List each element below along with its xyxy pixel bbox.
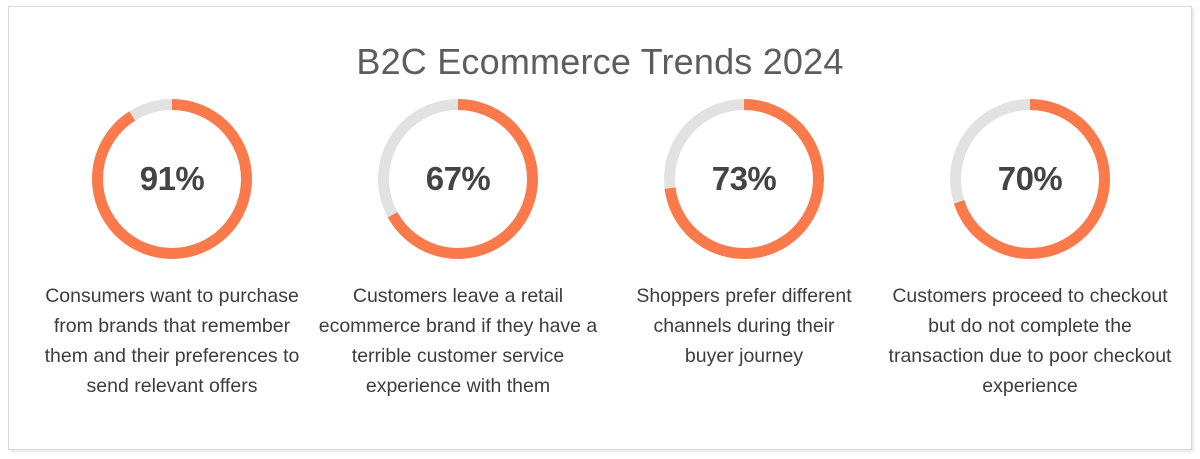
donut-value-2: 67% bbox=[378, 99, 538, 259]
infographic-page: B2C Ecommerce Trends 2024 91% Consumers … bbox=[0, 0, 1200, 459]
donut-chart-1: 91% bbox=[92, 99, 252, 259]
donut-value-4: 70% bbox=[950, 99, 1110, 259]
page-title: B2C Ecommerce Trends 2024 bbox=[9, 41, 1191, 83]
donut-stats-row: 91% Consumers want to purchase from bran… bbox=[29, 99, 1173, 401]
donut-chart-3: 73% bbox=[664, 99, 824, 259]
donut-chart-2: 67% bbox=[378, 99, 538, 259]
donut-value-1: 91% bbox=[92, 99, 252, 259]
stat-caption-3: Shoppers prefer different channels durin… bbox=[629, 281, 859, 371]
stat-item-2: 67% Customers leave a retail ecommerce b… bbox=[315, 99, 601, 401]
stat-item-4: 70% Customers proceed to checkout but do… bbox=[887, 99, 1173, 401]
donut-value-3: 73% bbox=[664, 99, 824, 259]
infographic-card: B2C Ecommerce Trends 2024 91% Consumers … bbox=[8, 6, 1192, 450]
stat-item-1: 91% Consumers want to purchase from bran… bbox=[29, 99, 315, 401]
donut-chart-4: 70% bbox=[950, 99, 1110, 259]
stat-caption-1: Consumers want to purchase from brands t… bbox=[30, 281, 314, 401]
stat-caption-2: Customers leave a retail ecommerce brand… bbox=[316, 281, 600, 401]
stat-caption-4: Customers proceed to checkout but do not… bbox=[888, 281, 1172, 401]
stat-item-3: 73% Shoppers prefer different channels d… bbox=[601, 99, 887, 371]
